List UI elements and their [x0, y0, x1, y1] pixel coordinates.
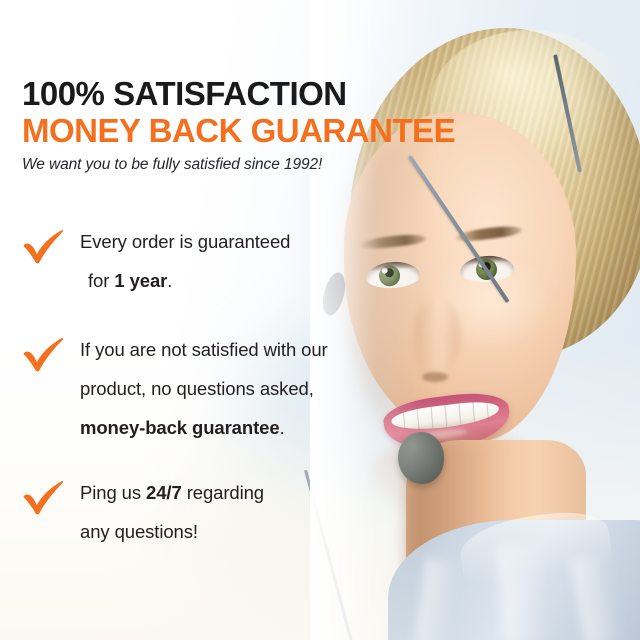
text-line: Every order is guaranteed: [80, 222, 420, 261]
text-line: money-back guarantee.: [80, 408, 420, 447]
list-item: If you are not satisfied with our produc…: [0, 330, 420, 447]
check-icon: [22, 228, 64, 264]
list-item-text: Ping us 24/7 regarding any questions!: [80, 473, 420, 551]
text-fragment: regarding: [182, 482, 264, 503]
headline-secondary: MONEY BACK GUARANTEE: [22, 114, 455, 147]
text-fragment: for: [88, 270, 114, 291]
list-item: Every order is guaranteed for 1 year.: [0, 222, 420, 300]
list-item-text: If you are not satisfied with our produc…: [80, 330, 420, 447]
guarantee-list: Every order is guaranteed for 1 year. If…: [0, 222, 420, 573]
check-icon: [22, 479, 64, 515]
text-fragment: .: [167, 270, 172, 291]
text-fragment: Ping us: [80, 482, 146, 503]
text-line: for 1 year.: [80, 261, 420, 300]
text-emphasis: money-back guarantee: [80, 417, 280, 438]
text-line: any questions!: [80, 512, 420, 551]
text-fragment: .: [280, 417, 285, 438]
list-item: Ping us 24/7 regarding any questions!: [0, 473, 420, 551]
tagline: We want you to be fully satisfied since …: [22, 156, 322, 174]
headline-primary: 100% SATISFACTION: [22, 77, 347, 110]
text-emphasis: 1 year: [114, 270, 167, 291]
nostril: [422, 372, 448, 382]
nose: [414, 300, 460, 376]
text-line: If you are not satisfied with our: [80, 330, 420, 369]
check-icon: [22, 336, 64, 372]
text-line: Ping us 24/7 regarding: [80, 473, 420, 512]
satisfaction-guarantee-banner: 100% SATISFACTION MONEY BACK GUARANTEE W…: [0, 0, 640, 640]
text-emphasis: 24/7: [146, 482, 182, 503]
list-item-text: Every order is guaranteed for 1 year.: [80, 222, 420, 300]
text-line: product, no questions asked,: [80, 369, 420, 408]
